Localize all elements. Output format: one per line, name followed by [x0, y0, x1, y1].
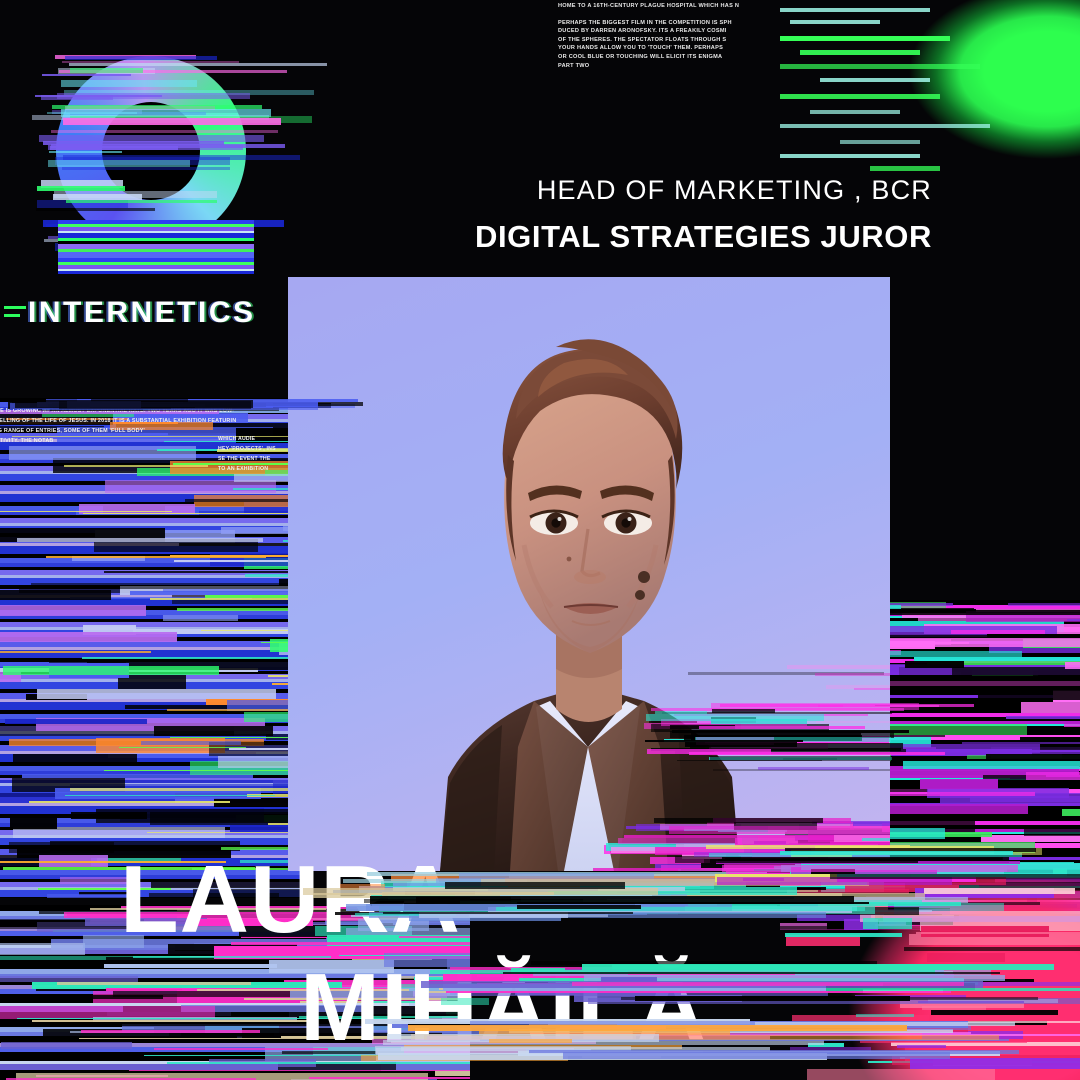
glitch-shred: [481, 879, 869, 885]
glitch-shred: [12, 778, 125, 792]
glitch-shred: [729, 873, 867, 876]
glitch-shred: [488, 888, 598, 891]
glitch-shred: [104, 571, 300, 573]
glitch-shred: [870, 166, 940, 171]
glitch-shred: [810, 110, 900, 114]
glitch-shred: [879, 920, 934, 928]
glitch-shred: [966, 611, 1080, 622]
glitch-shred: [905, 661, 964, 668]
glitch-shred: [883, 916, 1080, 921]
glitch-shred: [403, 907, 919, 915]
glitch-shred: [167, 709, 300, 711]
glitch-shred: [488, 907, 852, 913]
glitch-shred: [920, 779, 998, 789]
glitch-shred: [9, 739, 264, 746]
glitch-shred: [37, 689, 276, 699]
glitch-shred: [866, 896, 1037, 904]
glitch-shred: [49, 663, 129, 677]
glitch-shred: [3, 666, 220, 675]
glitch-shred: [65, 56, 217, 60]
glitch-shred: [922, 1006, 987, 1009]
glitch-shred: [36, 208, 155, 211]
glitch-shred: [0, 528, 165, 542]
glitch-shred: [496, 907, 865, 910]
glitch-shred: [32, 1020, 313, 1022]
glitch-shred: [1024, 829, 1080, 836]
glitch-shred: [36, 987, 182, 991]
glitch-shred: [694, 852, 890, 857]
glitch-shred: [83, 625, 136, 635]
glitch-shred: [863, 989, 942, 993]
micro-top-line: YOUR HANDS ALLOW YOU TO 'TOUCH' THEM. PE…: [558, 44, 808, 53]
glitch-shred: [48, 160, 190, 167]
glitch-shred: [72, 556, 145, 561]
glitch-shred: [61, 80, 197, 87]
glitch-shred: [914, 657, 1080, 661]
glitch-shred: [892, 1055, 1080, 1065]
glitch-shred: [500, 895, 652, 900]
glitch-shred: [888, 734, 945, 737]
glitch-shred: [922, 1031, 1023, 1039]
glitch-shred: [49, 659, 126, 666]
glitch-shred: [459, 873, 653, 880]
glitch-shred: [669, 826, 890, 834]
glitch-shred: [903, 761, 1080, 769]
glitch-shred: [868, 667, 1080, 677]
glitch-shred: [924, 624, 1080, 634]
glitch-shred: [905, 1052, 1080, 1060]
glitch-shred: [995, 878, 1080, 885]
glitch-shred: [0, 605, 146, 615]
glitch-shred: [466, 911, 678, 915]
glitch-shred: [906, 921, 953, 926]
glitch-shred: [12, 402, 78, 404]
glitch-shred: [906, 1028, 968, 1033]
glitch-shred: [986, 754, 1080, 764]
glitch-shred: [120, 586, 300, 594]
glitch-shred: [0, 668, 258, 672]
portrait-photo: [288, 277, 890, 871]
glitch-shred: [46, 556, 266, 558]
glitch-shred: [867, 877, 1006, 885]
glitch-shred: [55, 788, 261, 798]
glitch-shred: [908, 982, 1080, 986]
glitch-shred: [854, 890, 1080, 900]
glitch-shred: [1046, 775, 1080, 777]
glitch-shred: [0, 956, 278, 960]
glitch-shred: [32, 982, 342, 989]
glitch-shred: [920, 922, 1080, 931]
glitch-shred: [914, 609, 1007, 612]
micro-left-secondary-line: TO AN EXHIBITION: [218, 464, 348, 474]
glitch-shred: [103, 505, 166, 513]
glitch-shred: [931, 1010, 1058, 1015]
glitch-shred: [163, 615, 238, 621]
glitch-shred: [474, 910, 932, 912]
glitch-shred: [69, 63, 327, 66]
glitch-shred: [517, 905, 640, 909]
micro-left-secondary-line: HEY 'PROJECTS', INS: [218, 444, 348, 454]
glitch-shred: [927, 788, 1069, 798]
glitch-shred: [875, 705, 890, 706]
glitch-shred: [724, 877, 977, 883]
glitch-shred: [844, 919, 878, 929]
logo-tick-secondary-icon: [4, 314, 20, 317]
glitch-shred: [859, 679, 1080, 690]
glitch-shred: [1026, 772, 1080, 780]
glitch-shred: [95, 530, 235, 544]
glitch-shred: [455, 894, 687, 897]
glitch-shred: [964, 868, 1080, 870]
glitch-shred: [52, 105, 262, 109]
glitch-shred: [0, 995, 163, 998]
glitch-shred: [970, 796, 1080, 802]
glitch-shred: [780, 94, 940, 99]
glitch-shred: [829, 971, 953, 976]
glitch-shred: [49, 151, 122, 154]
glitch-shred: [981, 835, 1080, 842]
glitch-shred: [897, 1045, 946, 1048]
glitch-shred: [905, 1060, 1048, 1063]
glitch-shred: [470, 897, 793, 899]
glitch-shred: [1062, 754, 1080, 758]
glitch-shred: [915, 888, 1054, 898]
glitch-shred: [905, 882, 1080, 890]
glitch-shred: [921, 926, 1049, 937]
glitch-shred: [900, 999, 1024, 1008]
glitch-blob-pink: [780, 860, 1080, 1080]
micro-top-line: OR COOL BLUE OR TOUCHING WILL ELICIT ITS…: [558, 53, 808, 62]
glitch-shred: [119, 747, 246, 749]
glitch-shred: [780, 902, 1035, 907]
glitch-shred: [36, 1075, 168, 1077]
glitch-shred: [1064, 724, 1080, 726]
glitch-shred: [170, 737, 300, 738]
glitch-shred: [525, 900, 597, 905]
glitch-shred: [70, 597, 252, 599]
glitch-shred: [82, 657, 300, 659]
glitch-shred: [50, 146, 179, 149]
glitch-shred: [1067, 619, 1080, 622]
glitch-shred: [951, 630, 1045, 633]
glitch-shred: [1023, 639, 1080, 648]
glitch-shred: [51, 130, 278, 133]
glitch-shred: [95, 400, 145, 403]
glitch-shred: [31, 583, 295, 589]
glitch-shred: [47, 112, 137, 114]
glitch-shred: [780, 923, 827, 930]
glitch-shred: [505, 906, 790, 909]
glitch-shred: [717, 877, 952, 885]
glitch-shred: [972, 668, 1038, 676]
glitch-shred: [860, 911, 1080, 922]
glitch-shred: [780, 926, 987, 930]
glitch-shred: [517, 902, 870, 904]
micro-left-line: ETELLING OF THE LIFE OF JESUS. IN 2018 I…: [0, 416, 292, 426]
glitch-shred: [0, 651, 151, 654]
glitch-shred: [884, 914, 942, 917]
glitch-shred: [105, 480, 276, 493]
glitch-shred: [982, 710, 1080, 714]
glitch-shred: [900, 1057, 1064, 1059]
glitch-shred: [884, 665, 1080, 675]
glitch-shred: [933, 1059, 1032, 1066]
glitch-shred: [94, 539, 258, 552]
glitch-shred: [185, 499, 300, 503]
glitch-shred: [107, 1011, 232, 1016]
logo-wordmark: INTERNETICS: [28, 296, 278, 330]
glitch-shred: [862, 838, 890, 841]
glitch-shred: [209, 742, 300, 756]
micro-top-line: OF THE SPHERES. THE SPECTATOR FLOATS THR…: [558, 36, 808, 45]
glitch-shred: [593, 868, 754, 871]
glitch-shred: [147, 832, 300, 833]
glitch-shred: [845, 885, 959, 892]
glitch-shred: [118, 675, 186, 690]
portrait-illustration: [288, 277, 890, 871]
glitch-shred: [150, 598, 300, 601]
role-position-line: HEAD OF MARKETING , BCR: [475, 176, 932, 206]
glitch-shred: [0, 855, 91, 867]
glitch-shred: [818, 900, 888, 911]
glitch-shred: [449, 913, 647, 915]
glitch-shred: [41, 95, 114, 100]
micro-left-secondary-line: SE THE EVENT THE: [218, 454, 348, 464]
glitch-shred: [879, 902, 1039, 905]
glitch-shred: [19, 588, 274, 593]
glitch-shred: [833, 904, 1077, 908]
glitch-shred: [909, 934, 1080, 944]
glitch-shred: [674, 714, 868, 716]
glitch-shred: [129, 1070, 470, 1072]
glitch-shred: [436, 878, 829, 883]
glitch-shred: [190, 761, 300, 775]
glitch-shred: [787, 889, 909, 894]
poster-canvas: INTERNETICS HOME TO A 16TH-CENTURY PLAGU…: [0, 0, 1080, 1080]
glitch-shred: [70, 1031, 270, 1034]
glitch-shred: [982, 744, 1080, 749]
glitch-shred: [0, 976, 138, 982]
glitch-shred: [91, 399, 188, 405]
glitch-shred: [1010, 777, 1080, 779]
glitch-shred: [885, 1021, 1080, 1023]
glitch-shred: [77, 399, 220, 403]
glitch-shred: [63, 118, 281, 125]
glitch-shred: [87, 662, 300, 670]
micro-top-line: PERHAPS THE BIGGEST FILM IN THE COMPETIT…: [558, 19, 808, 28]
glitch-shred: [950, 902, 1080, 914]
glitch-shred: [125, 705, 300, 709]
glitch-shred: [104, 964, 277, 969]
glitch-shred: [918, 1001, 1023, 1003]
glitch-shred: [927, 891, 1080, 898]
glitch-shred: [924, 892, 1080, 898]
glitch-shred: [62, 167, 229, 170]
glitch-shred: [978, 688, 1080, 700]
glitch-shred: [787, 665, 890, 669]
glitch-shred: [808, 1043, 844, 1047]
glitch-shred: [868, 1061, 1080, 1063]
glitch-shred: [43, 1029, 274, 1037]
glitch-shred: [172, 589, 300, 604]
glitch-shred: [855, 995, 967, 999]
glitch-shred: [9, 842, 113, 853]
glitch-shred: [309, 1077, 470, 1079]
glitch-shred: [891, 1042, 1080, 1045]
glitch-shred: [0, 943, 85, 956]
glitch-shred: [1006, 716, 1080, 720]
glitch-shred: [820, 78, 930, 82]
glitch-shred: [790, 1047, 872, 1053]
glitch-shred: [1065, 662, 1080, 668]
glitch-shred: [526, 902, 688, 906]
glitch-shred: [167, 1062, 470, 1064]
glitch-shred: [875, 924, 964, 930]
micro-top-line: DUCED BY DARREN ARONOFSKY. ITS A FREAKIL…: [558, 27, 808, 36]
glitch-shred: [967, 755, 1080, 759]
glitch-shred: [70, 784, 292, 788]
glitch-shred: [104, 770, 300, 771]
glitch-shred: [756, 739, 890, 742]
glitch-shred: [278, 1062, 396, 1070]
glitch-shred: [0, 780, 273, 783]
glitch-shred: [1033, 671, 1080, 681]
glitch-shred: [65, 795, 275, 796]
glitch-shred: [96, 738, 225, 754]
glitch-shred: [976, 609, 1080, 612]
glitch-shred: [66, 200, 217, 202]
glitch-shred: [1002, 919, 1060, 929]
glitch-shred: [815, 673, 890, 676]
glitch-shred: [43, 141, 225, 145]
glitch-shred: [29, 801, 230, 803]
glitch-shred: [1062, 809, 1080, 816]
glitch-shred: [40, 401, 240, 404]
glitch-shred: [439, 892, 618, 900]
glitch-shred: [783, 758, 837, 760]
glitch-shred: [0, 632, 177, 641]
glitch-shred: [170, 555, 300, 557]
glitch-shred: [1020, 737, 1080, 743]
glitch-shred: [1008, 603, 1080, 607]
glitch-shred: [105, 400, 220, 404]
glitch-shred: [70, 68, 143, 74]
glitch-shred: [10, 814, 57, 829]
glitch-shred: [797, 909, 1080, 921]
glitch-shred: [505, 878, 820, 885]
glitch-shred: [9, 446, 196, 460]
glitch-shred: [469, 914, 608, 917]
glitch-shred: [504, 887, 826, 889]
glitch-shred: [0, 1006, 215, 1019]
glitch-shred: [141, 741, 241, 744]
glitch-shred: [910, 885, 979, 888]
glitch-shred: [863, 918, 912, 929]
micro-text-left-secondary: WHICH AUDIEHEY 'PROJECTS', INSSE THE EVE…: [218, 434, 348, 474]
glitch-shred: [480, 890, 817, 892]
glitch-shred: [1021, 702, 1080, 713]
glitch-shred: [0, 793, 175, 803]
glitch-shred: [905, 1047, 1080, 1053]
glitch-shred: [96, 809, 300, 822]
glitch-shred: [16, 1073, 428, 1080]
glitch-shred: [0, 672, 21, 683]
glitch-shred: [936, 873, 1080, 878]
glitch-shred: [206, 699, 300, 704]
glitch-shred: [894, 903, 1004, 911]
glitch-shred: [780, 124, 990, 128]
glitch-shred: [792, 1015, 930, 1023]
glitch-shred: [76, 509, 199, 514]
glitch-shred: [507, 893, 925, 900]
glitch-shred: [39, 855, 108, 866]
glitch-shred: [816, 721, 890, 723]
glitch-shred: [133, 629, 300, 634]
glitch-shred: [445, 882, 626, 889]
glitch-shred: [886, 602, 947, 609]
glitch-shred: [449, 889, 639, 891]
glitch-shred: [0, 511, 172, 512]
glitch-shred: [821, 882, 884, 892]
glitch-shred: [79, 504, 195, 514]
glitch-shred: [786, 935, 860, 946]
glitch-shred: [927, 661, 1080, 670]
glitch-shred: [205, 595, 300, 598]
glitch-shred: [758, 767, 869, 770]
role-juror-line: DIGITAL STRATEGIES JUROR: [475, 220, 932, 254]
glitch-shred: [910, 1058, 1080, 1069]
glitch-shred: [205, 1025, 279, 1032]
glitch-shred: [201, 630, 300, 632]
glitch-shred: [856, 1014, 914, 1017]
glitch-shred: [991, 747, 1080, 758]
glitch-shred: [916, 932, 1080, 934]
glitch-shred: [1067, 865, 1080, 876]
glitch-shred: [81, 1030, 260, 1033]
micro-left-secondary-line: WHICH AUDIE: [218, 434, 348, 444]
internetics-logo-icon: [38, 48, 274, 288]
glitch-shred: [22, 774, 254, 777]
person-first-name: LAURA: [120, 852, 461, 948]
micro-text-top: HOME TO A 16TH-CENTURY PLAGUE HOSPITAL W…: [558, 2, 808, 70]
glitch-shred: [800, 50, 920, 55]
glitch-shred: [927, 953, 1004, 962]
glitch-shred: [150, 812, 300, 825]
glitch-shred: [884, 918, 1034, 926]
glitch-shred: [46, 399, 165, 403]
glitch-shred: [726, 871, 912, 878]
glitch-shred: [174, 560, 300, 562]
glitch-shred: [83, 513, 300, 514]
glitch-shred: [875, 915, 959, 921]
glitch-shred: [720, 863, 890, 867]
glitch-shred: [5, 719, 147, 723]
glitch-shred: [807, 1069, 996, 1080]
glitch-shred: [492, 887, 798, 895]
glitch-shred: [57, 982, 250, 984]
glitch-shred: [924, 888, 1074, 894]
glitch-shred: [918, 617, 1080, 621]
logo-tick-icon: [4, 306, 26, 309]
glitch-shred: [177, 608, 300, 611]
glitch-shred: [866, 898, 1027, 902]
role-title-block: HEAD OF MARKETING , BCR DIGITAL STRATEGI…: [475, 176, 932, 254]
glitch-shred: [72, 403, 177, 405]
glitch-shred: [521, 897, 968, 902]
glitch-shred: [42, 74, 131, 76]
glitch-shred: [509, 874, 975, 878]
glitch-shred: [840, 140, 920, 144]
